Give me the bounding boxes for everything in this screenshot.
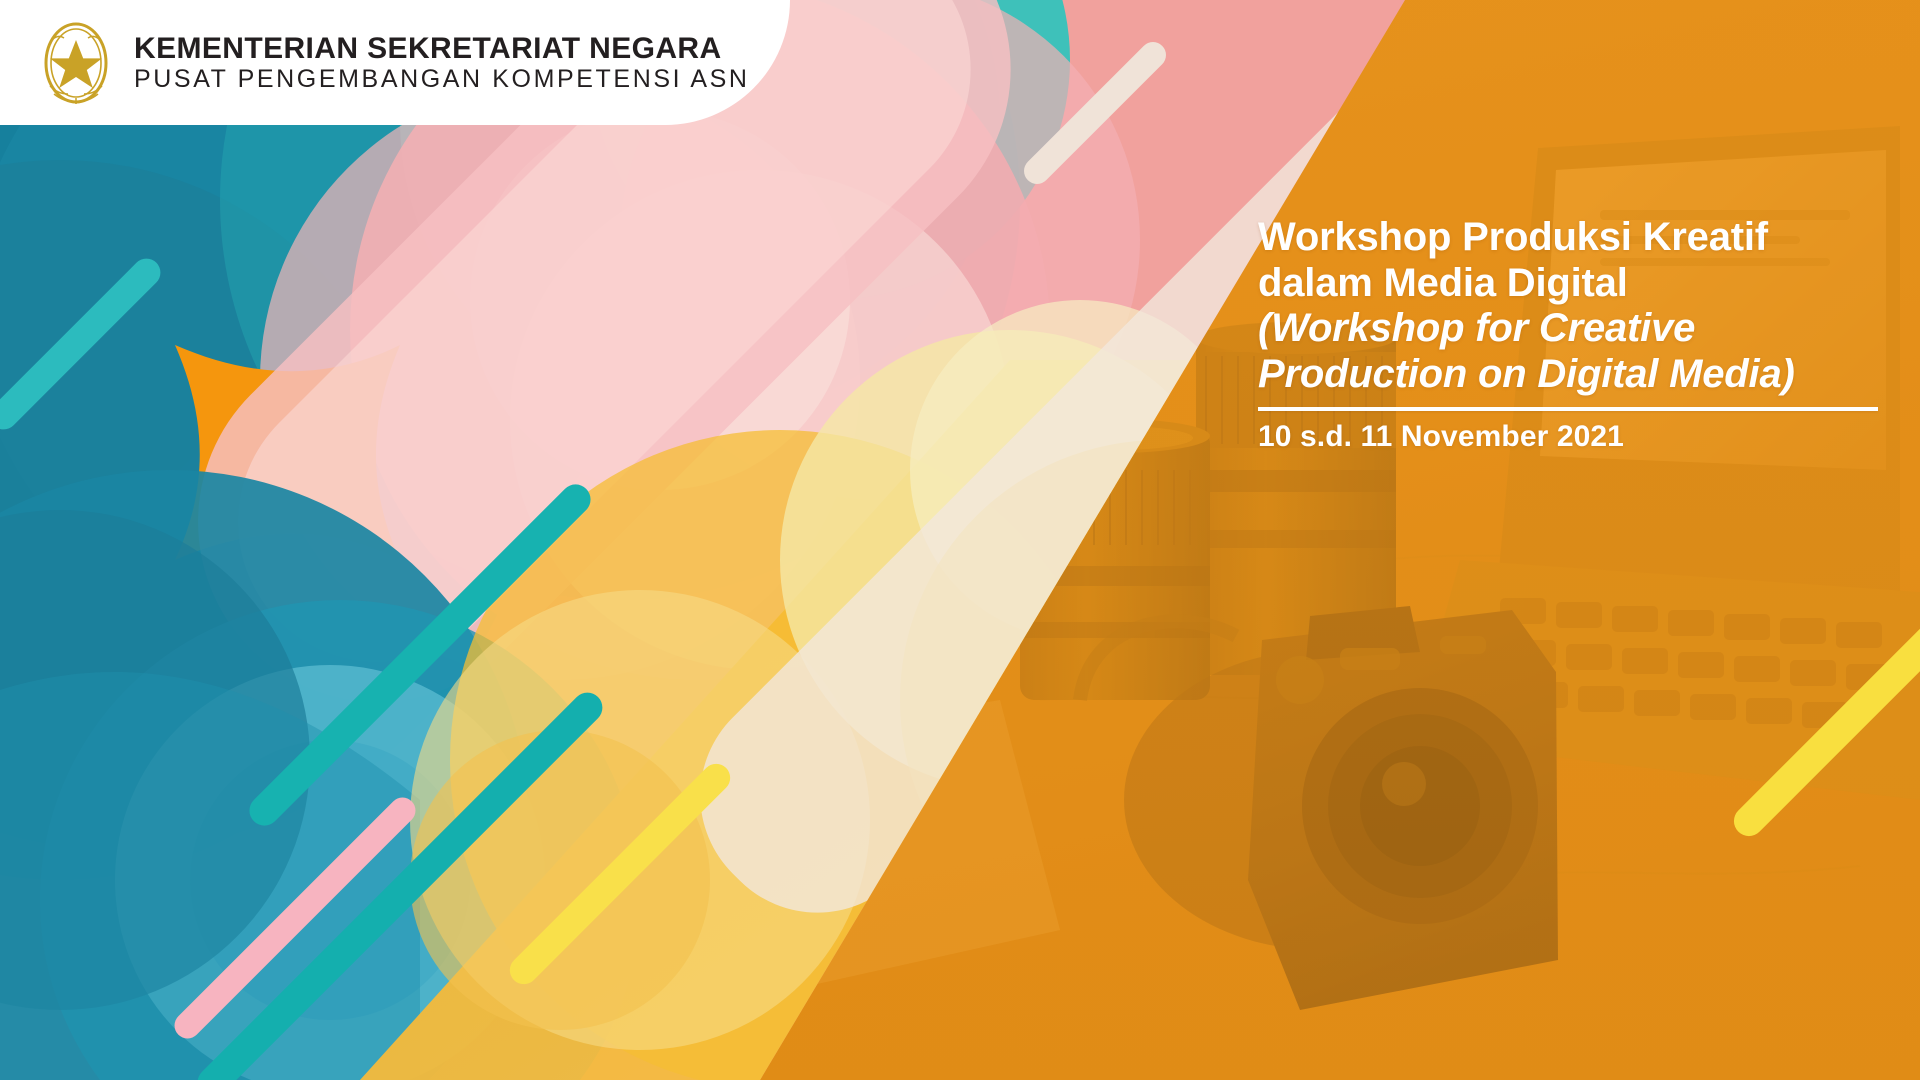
event-title-line-1: Workshop Produksi Kreatif	[1258, 215, 1878, 261]
organization-name-primary: KEMENTERIAN SEKRETARIAT NEGARA	[134, 32, 750, 65]
event-title-translation-line-1: (Workshop for Creative	[1258, 306, 1878, 352]
event-date: 10 s.d. 11 November 2021	[1258, 420, 1878, 454]
event-title-line-2: dalam Media Digital	[1258, 261, 1878, 307]
garuda-star-emblem-icon	[40, 20, 112, 106]
title-divider-rule	[1258, 407, 1878, 411]
organization-name-secondary: PUSAT PENGEMBANGAN KOMPETENSI ASN	[134, 65, 750, 94]
event-title-translation-line-2: Production on Digital Media)	[1258, 352, 1878, 398]
promotional-banner: KEMENTERIAN SEKRETARIAT NEGARA PUSAT PEN…	[0, 0, 1920, 1080]
geometric-decoration	[0, 0, 1920, 1080]
event-title-block: Workshop Produksi Kreatif dalam Media Di…	[1258, 215, 1878, 454]
logo-header-panel: KEMENTERIAN SEKRETARIAT NEGARA PUSAT PEN…	[0, 0, 790, 125]
